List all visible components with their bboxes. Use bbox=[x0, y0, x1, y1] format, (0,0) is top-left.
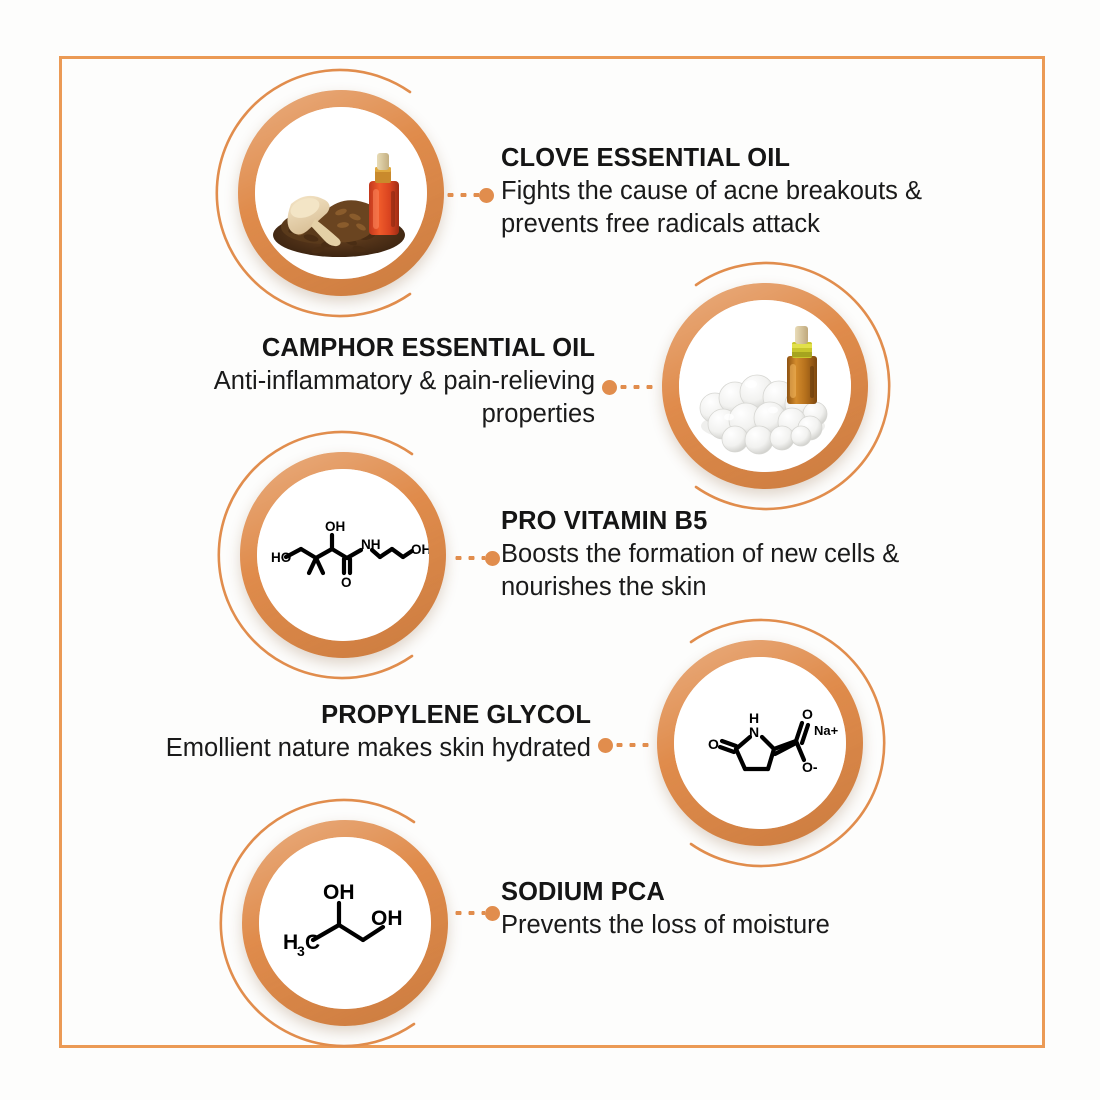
ingredient-icon-provitaminb5[interactable]: HO OH NH OH O bbox=[240, 452, 446, 658]
label-oh-top: OH bbox=[325, 519, 345, 534]
label-o-ketone: O bbox=[708, 736, 719, 752]
connector-dots bbox=[452, 911, 485, 915]
propylene-glycol-structure: OH OH H 3 C bbox=[259, 837, 431, 1009]
connector-clove bbox=[444, 185, 494, 205]
ingredient-desc-line1: Emollient nature makes skin hydrated bbox=[80, 732, 591, 765]
icon-inner: OH OH H 3 C bbox=[259, 837, 431, 1009]
ingredient-title: SODIUM PCA bbox=[501, 877, 1021, 908]
label-n: N bbox=[749, 724, 759, 740]
connector-bullet bbox=[485, 906, 500, 921]
ingredient-text-sodiumpca: SODIUM PCA Prevents the loss of moisture bbox=[501, 877, 1021, 942]
label-oh-right: OH bbox=[371, 907, 403, 930]
ingredient-desc-line1: Anti-inflammatory & pain-relieving bbox=[80, 365, 595, 398]
ingredient-text-clove: CLOVE ESSENTIAL OIL Fights the cause of … bbox=[501, 143, 1021, 241]
ingredient-icon-sodiumpca-structure[interactable]: O H N O O- Na+ bbox=[657, 640, 863, 846]
ingredient-text-provitaminb5: PRO VITAMIN B5 Boosts the formation of n… bbox=[501, 506, 1021, 604]
icon-inner bbox=[679, 300, 851, 472]
ingredient-icon-camphor[interactable] bbox=[662, 283, 868, 489]
icon-inner: O H N O O- Na+ bbox=[674, 657, 846, 829]
connector-dots bbox=[452, 556, 485, 560]
icon-inner: HO OH NH OH O bbox=[257, 469, 429, 641]
connector-sodiumpca bbox=[452, 903, 500, 923]
ingredient-title: PRO VITAMIN B5 bbox=[501, 506, 1021, 537]
label-nh: NH bbox=[361, 537, 381, 552]
ingredient-desc-line2: prevents free radicals attack bbox=[501, 208, 1021, 241]
connector-dots bbox=[613, 743, 652, 747]
ingredient-title: PROPYLENE GLYCOL bbox=[80, 700, 591, 731]
connector-bullet bbox=[479, 188, 494, 203]
label-o-carbonyl: O bbox=[341, 575, 352, 590]
ingredient-desc-line2: nourishes the skin bbox=[501, 571, 1021, 604]
ingredient-desc-line1: Fights the cause of acne breakouts & bbox=[501, 175, 1021, 208]
camphor-photo bbox=[679, 300, 851, 472]
connector-provitaminb5 bbox=[452, 548, 500, 568]
ingredient-text-propylene: PROPYLENE GLYCOL Emollient nature makes … bbox=[80, 700, 591, 765]
label-o-minus: O- bbox=[802, 759, 818, 775]
panthenol-structure: HO OH NH OH O bbox=[257, 469, 429, 641]
label-h: H bbox=[283, 931, 298, 954]
label-na-plus: Na+ bbox=[814, 723, 839, 738]
ingredient-title: CLOVE ESSENTIAL OIL bbox=[501, 143, 1021, 174]
label-o-carbonyl: O bbox=[802, 706, 813, 722]
connector-propylene bbox=[598, 735, 652, 755]
ingredient-desc-line1: Boosts the formation of new cells & bbox=[501, 538, 1021, 571]
connector-bullet bbox=[598, 738, 613, 753]
icon-inner bbox=[255, 107, 427, 279]
connector-bullet bbox=[485, 551, 500, 566]
connector-dots bbox=[444, 193, 479, 197]
connector-dots bbox=[617, 385, 656, 389]
clove-oil-photo bbox=[255, 107, 427, 279]
label-oh-right: OH bbox=[411, 542, 429, 557]
ingredient-desc-line1: Prevents the loss of moisture bbox=[501, 909, 1021, 942]
connector-camphor bbox=[602, 377, 656, 397]
label-oh-top: OH bbox=[323, 881, 355, 904]
label-h-subscript: 3 bbox=[297, 943, 305, 959]
ingredient-title: CAMPHOR ESSENTIAL OIL bbox=[80, 333, 595, 364]
sodium-pca-structure: O H N O O- Na+ bbox=[674, 657, 846, 829]
ingredient-text-camphor: CAMPHOR ESSENTIAL OIL Anti-inflammatory … bbox=[80, 333, 595, 431]
ingredient-icon-propylene-structure[interactable]: OH OH H 3 C bbox=[242, 820, 448, 1026]
ingredient-icon-clove[interactable] bbox=[238, 90, 444, 296]
ingredient-infographic: CLOVE ESSENTIAL OIL Fights the cause of … bbox=[0, 0, 1100, 1100]
ingredient-desc-line2: properties bbox=[80, 398, 595, 431]
connector-bullet bbox=[602, 380, 617, 395]
label-c: C bbox=[305, 931, 320, 954]
label-ho: HO bbox=[271, 550, 291, 565]
